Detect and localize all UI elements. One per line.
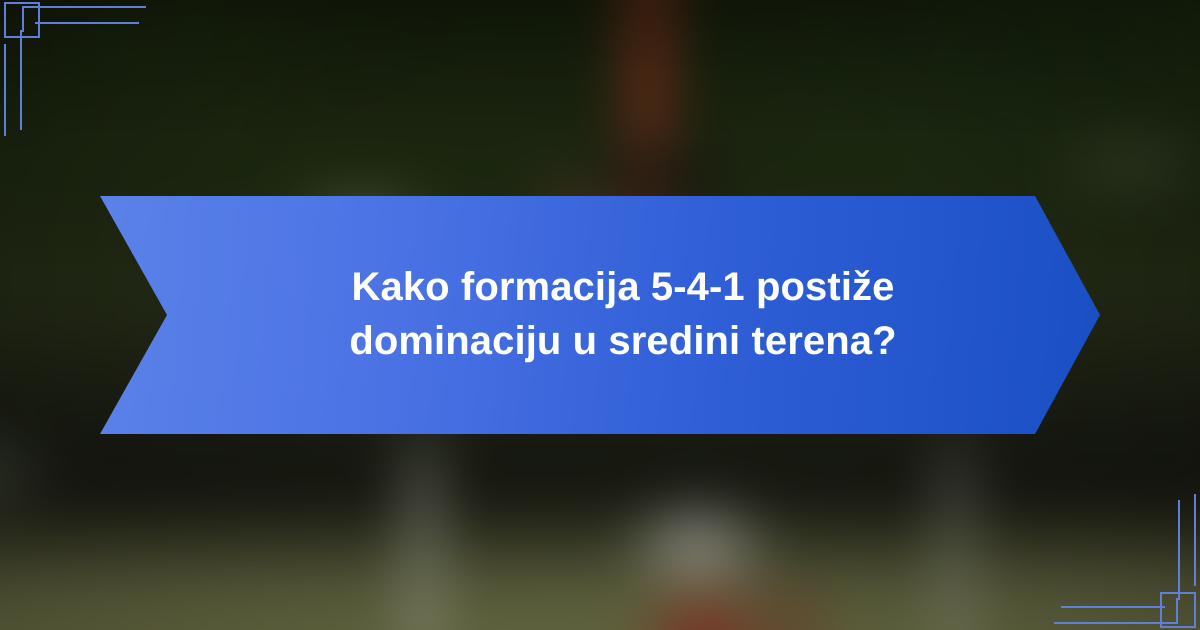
headline-text: Kako formacija 5-4-1 postiže dominaciju … — [243, 261, 1003, 368]
page-root: Kako formacija 5-4-1 postiže dominaciju … — [0, 0, 1200, 630]
headline-line-2: sredini terena? — [608, 319, 896, 363]
headline-banner: Kako formacija 5-4-1 postiže dominaciju … — [100, 196, 1100, 434]
